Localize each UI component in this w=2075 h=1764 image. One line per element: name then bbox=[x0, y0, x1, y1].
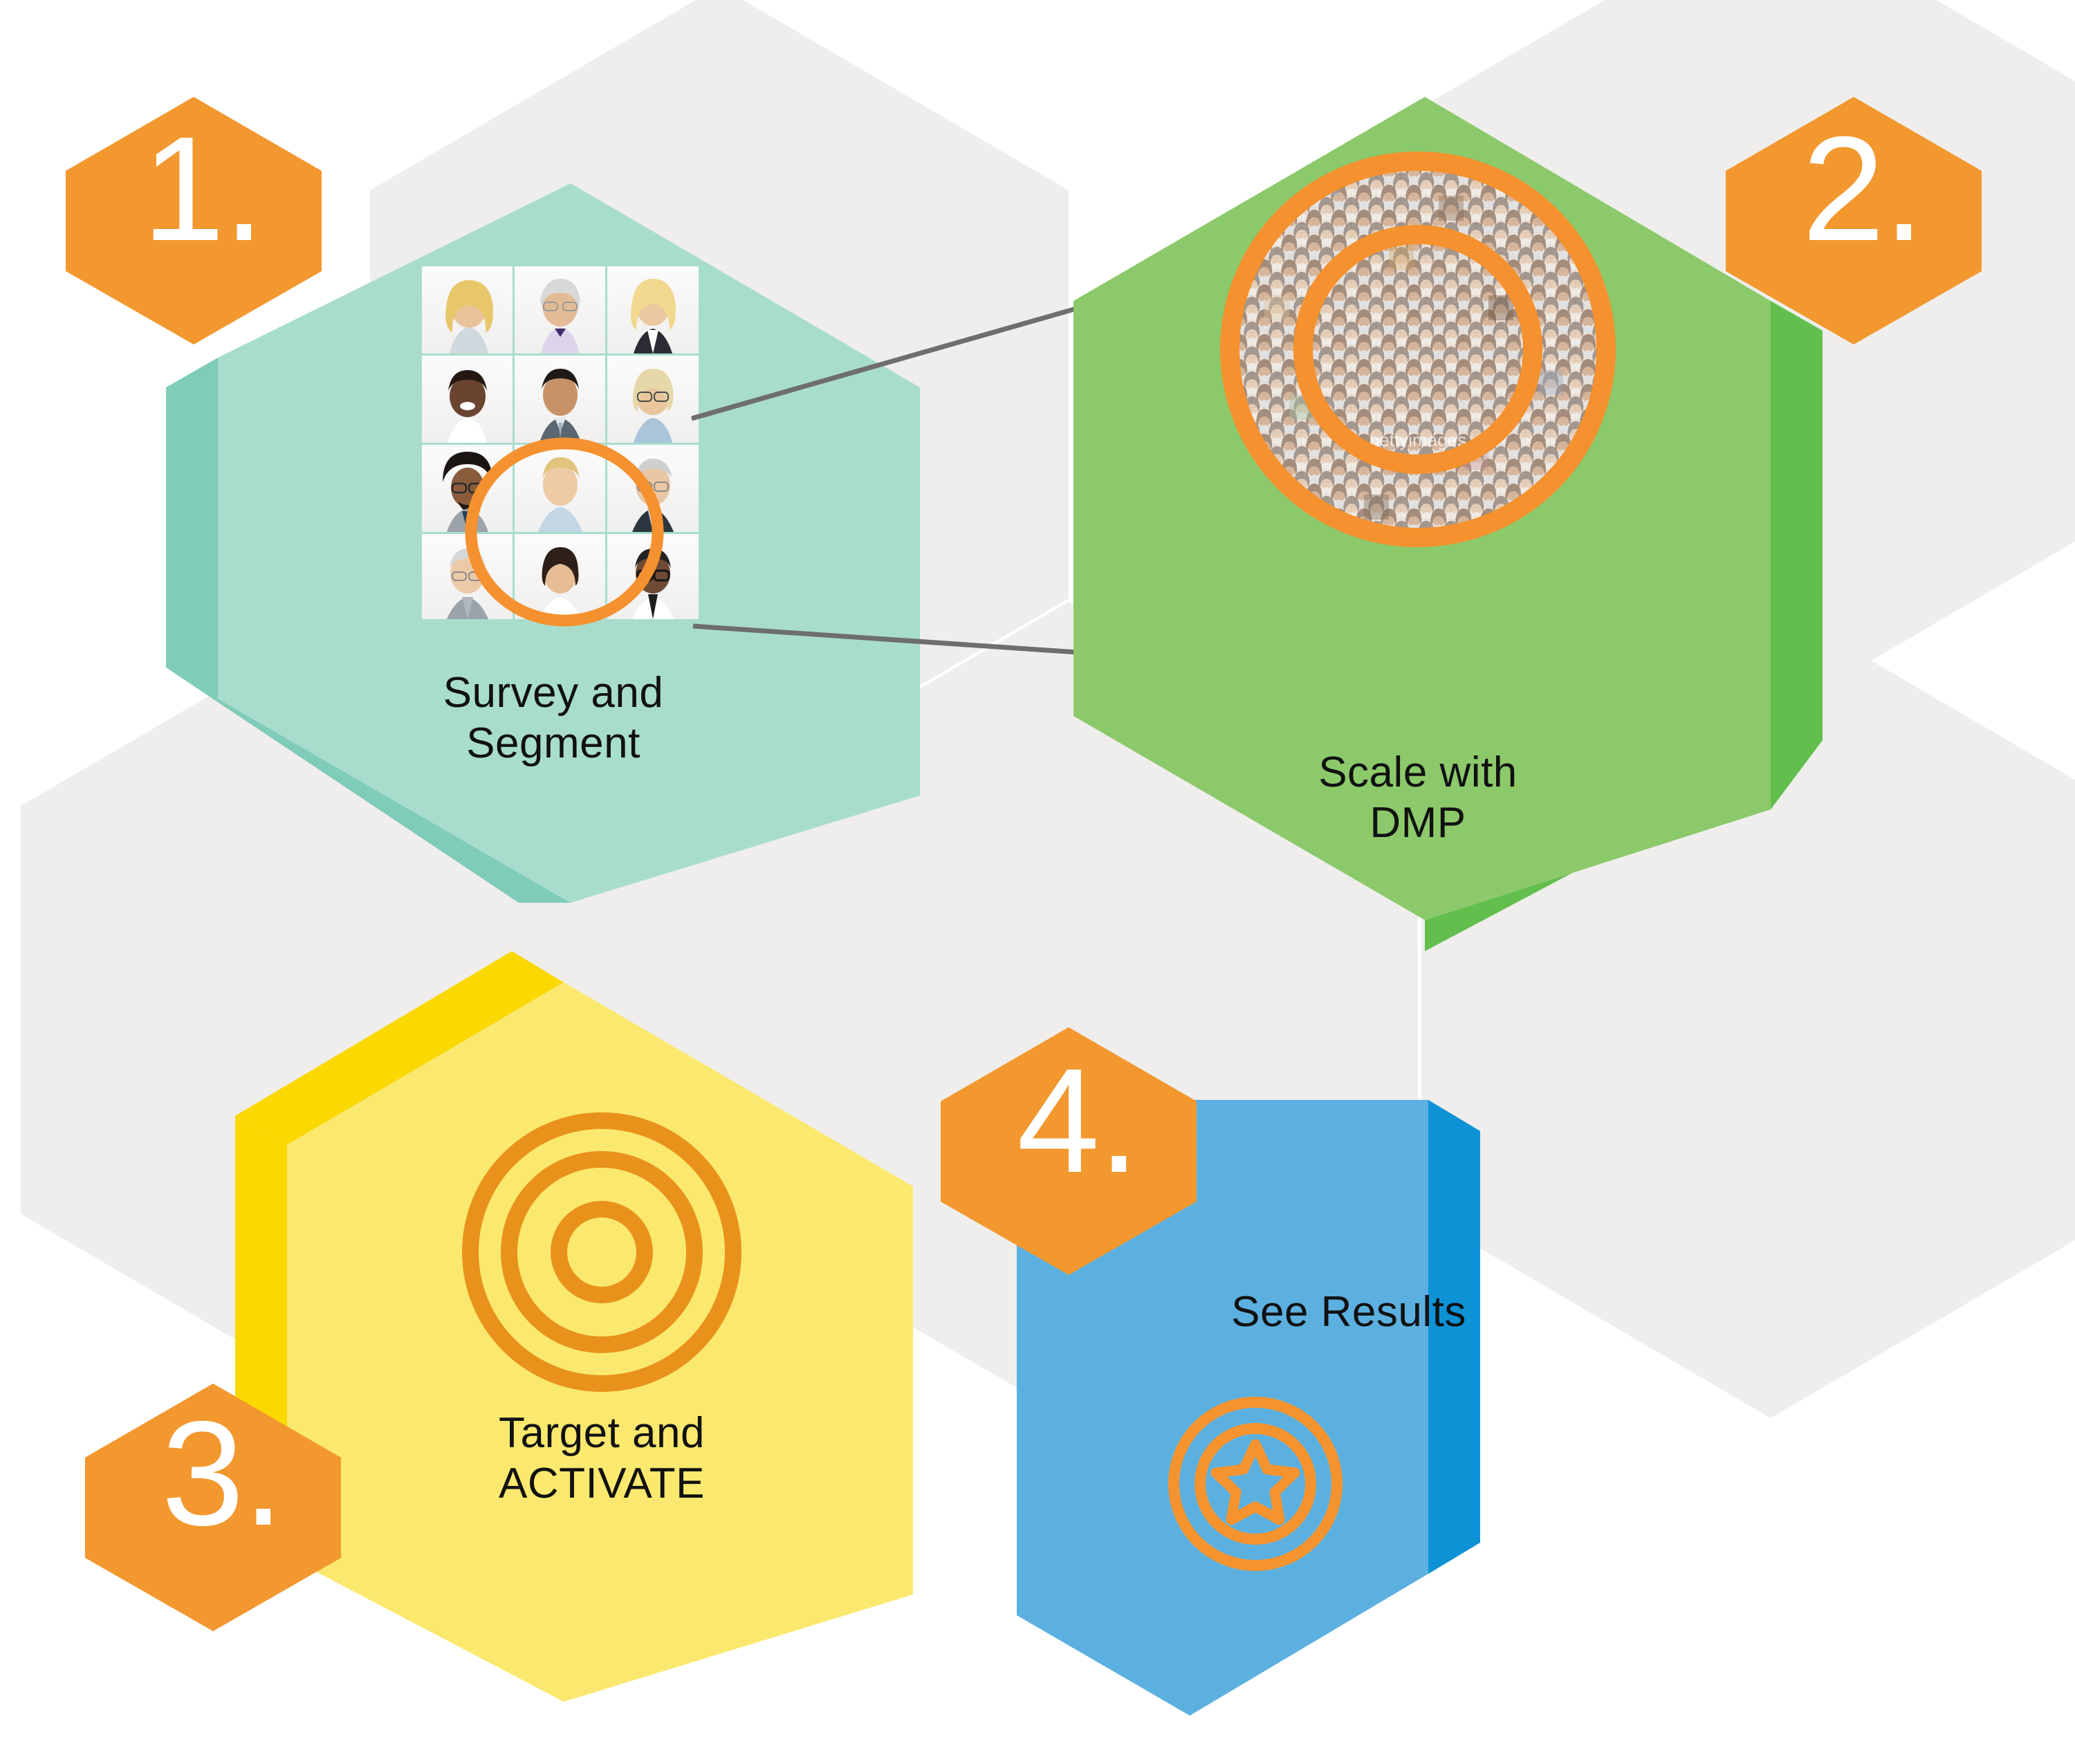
target-ring-middle bbox=[509, 1159, 694, 1345]
step-2-hex-shadow bbox=[1771, 301, 1823, 809]
step-4-number: 4. bbox=[957, 1046, 1199, 1195]
step-2-number: 2. bbox=[1742, 114, 1984, 263]
infographic-canvas: Survey and Segment 1. bbox=[0, 0, 2075, 1764]
crowd-mosaic-svg: gettyimages bbox=[1190, 121, 1646, 578]
step-3-label: Target and ACTIVATE bbox=[391, 1408, 813, 1509]
step-4-label: See Results bbox=[1138, 1287, 1560, 1337]
star-badge-icon bbox=[1162, 1390, 1349, 1577]
target-ring-inner bbox=[559, 1209, 645, 1295]
getty-watermark: gettyimages bbox=[1369, 430, 1466, 450]
crowd-mosaic-target[interactable]: gettyimages bbox=[1190, 121, 1646, 578]
concentric-target-icon bbox=[456, 1107, 747, 1397]
step-3-number: 3. bbox=[101, 1399, 343, 1547]
step-2-label: Scale with DMP bbox=[1207, 747, 1629, 848]
star-shape bbox=[1216, 1444, 1295, 1520]
